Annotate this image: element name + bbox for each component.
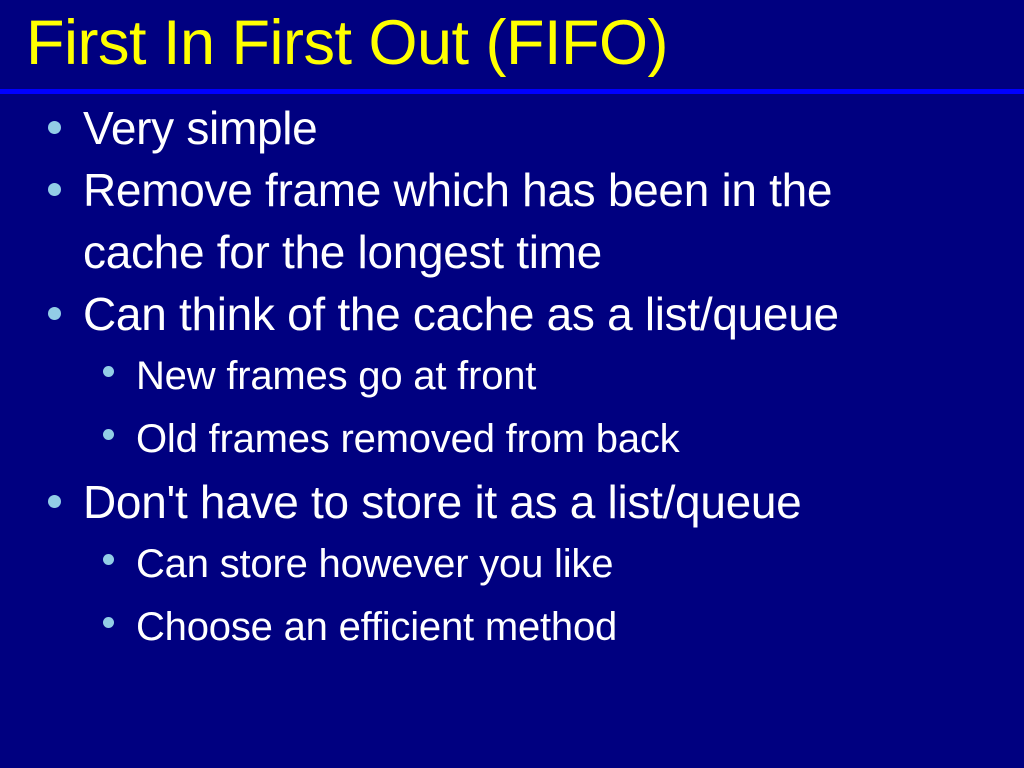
bullet-circle-icon xyxy=(103,617,114,628)
slide-title-area: First In First Out (FIFO) xyxy=(0,0,1024,90)
bullet-circle-icon xyxy=(48,121,61,134)
bullet-circle-icon xyxy=(48,183,61,196)
bullet-circle-icon xyxy=(103,554,114,565)
list-item-label: Can think of the cache as a list/queue xyxy=(83,283,839,345)
bullet-circle-icon xyxy=(48,307,61,320)
slide: First In First Out (FIFO) Very simple Re… xyxy=(0,0,1024,768)
list-item: Don't have to store it as a list/queue xyxy=(0,471,1024,533)
bullet-circle-icon xyxy=(103,366,114,377)
sub-list-item: Can store however you like xyxy=(0,533,1024,596)
list-item: Very simple xyxy=(0,97,1024,159)
list-item-label: Very simple xyxy=(83,97,317,159)
sub-list-item: Choose an efficient method xyxy=(0,596,1024,659)
bullet-circle-icon xyxy=(48,495,61,508)
sub-list-item: Old frames removed from back xyxy=(0,408,1024,471)
bullet-circle-icon xyxy=(103,429,114,440)
list-item-label: Don't have to store it as a list/queue xyxy=(83,471,801,533)
page-title: First In First Out (FIFO) xyxy=(26,2,668,84)
list-item-label: Remove frame which has been in the cache… xyxy=(83,159,945,283)
sub-list-item-label: Old frames removed from back xyxy=(136,408,679,471)
sub-list-item-label: Can store however you like xyxy=(136,533,613,596)
slide-body: Very simple Remove frame which has been … xyxy=(0,97,1024,768)
sub-list-item: New frames go at front xyxy=(0,345,1024,408)
sub-list-item-label: Choose an efficient method xyxy=(136,596,617,659)
sub-list-item-label: New frames go at front xyxy=(136,345,536,408)
title-divider xyxy=(0,89,1024,94)
list-item: Can think of the cache as a list/queue xyxy=(0,283,1024,345)
list-item: Remove frame which has been in the cache… xyxy=(0,159,1024,283)
